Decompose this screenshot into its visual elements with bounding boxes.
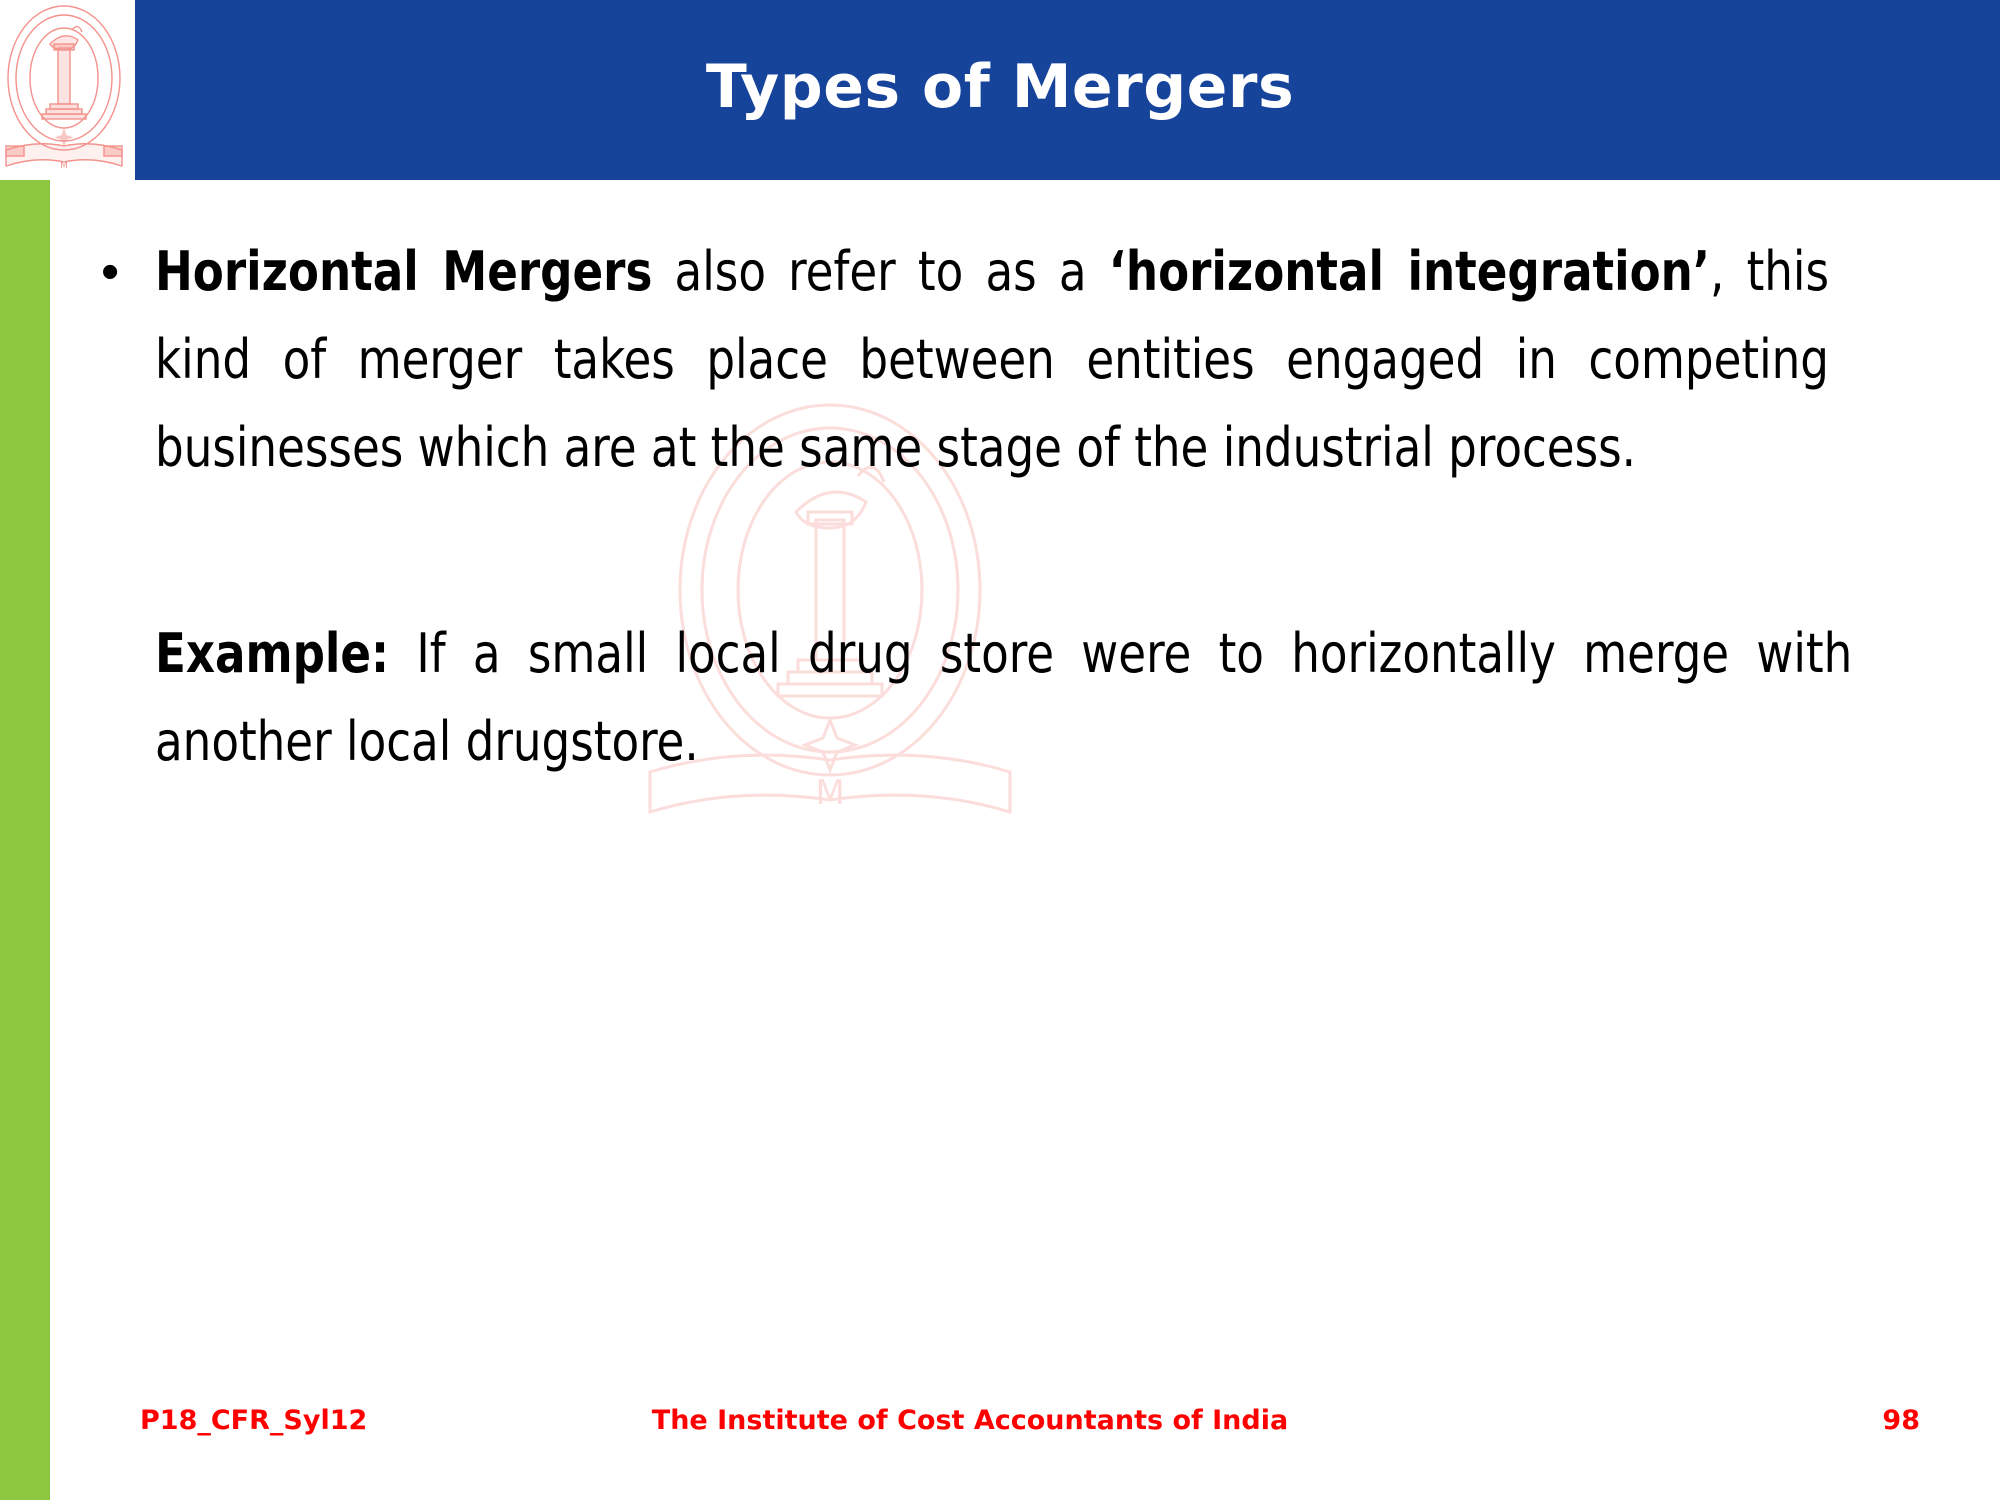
- logo-monogram: M: [60, 161, 68, 171]
- body-text: also refer to as a: [652, 240, 1108, 303]
- slide-body: • Horizontal Mergers also refer to as a …: [95, 228, 1955, 786]
- body-text: If a small local drug store were to hori…: [155, 622, 1852, 773]
- emphasis-text: ‘horizontal integration’: [1109, 240, 1710, 303]
- bullet-marker-icon: •: [95, 228, 155, 316]
- icai-logo-svg: M: [0, 0, 135, 180]
- example-block: Example: If a small local drug store wer…: [155, 610, 1955, 786]
- footer: P18_CFR_Syl12 The Institute of Cost Acco…: [0, 1405, 2000, 1455]
- footer-page-number: 98: [1882, 1405, 1920, 1436]
- left-accent-strip: [0, 180, 50, 1500]
- emphasis-text: Horizontal Mergers: [155, 240, 652, 303]
- paragraph-horizontal-mergers: Horizontal Mergers also refer to as a ‘h…: [155, 228, 1829, 492]
- footer-institute-name: The Institute of Cost Accountants of Ind…: [0, 1405, 1940, 1436]
- bullet-item-horizontal-mergers: • Horizontal Mergers also refer to as a …: [95, 228, 1955, 492]
- emphasis-text: Example:: [155, 622, 389, 685]
- page-title: Types of Mergers: [135, 52, 1865, 122]
- icai-logo: M: [0, 0, 135, 180]
- paragraph-example: Example: If a small local drug store wer…: [155, 610, 1852, 786]
